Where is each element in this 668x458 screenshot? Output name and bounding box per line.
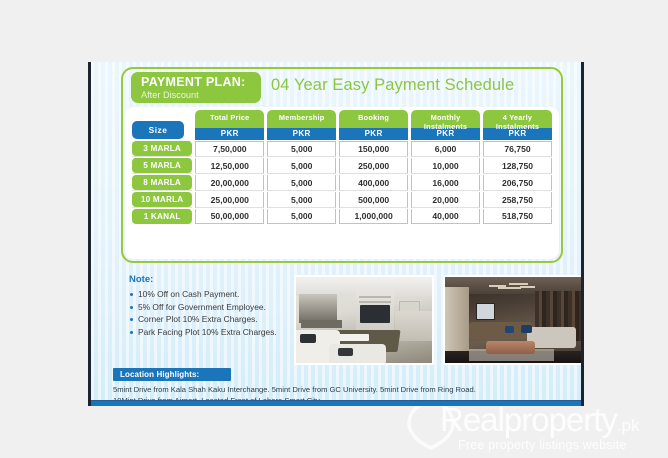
watermark-tagline: Free property listings website xyxy=(458,438,627,452)
note-item: 5% Off for Government Employee. xyxy=(129,301,309,314)
payment-plan-table: Size Total Price PKR Membership PKR Book… xyxy=(129,109,555,225)
row-size-label: 1 KANAL xyxy=(132,209,192,224)
cell-total-price: 7,50,000 xyxy=(195,141,264,157)
column-header-total-price-label: Total Price xyxy=(195,110,264,128)
payment-plan-badge-subtitle: After Discount xyxy=(141,90,253,101)
table-header-row: Size Total Price PKR Membership PKR Book… xyxy=(132,110,552,140)
payment-plan-badge-title: PAYMENT PLAN: xyxy=(141,75,253,89)
payment-plan-badge: PAYMENT PLAN: After Discount xyxy=(131,72,261,103)
cell-yearly: 128,750 xyxy=(483,158,552,174)
table-row: 10 MARLA 25,00,000 5,000 500,000 20,000 … xyxy=(132,192,552,208)
row-size-label: 8 MARLA xyxy=(132,175,192,190)
watermark: Realproperty.pk Free property listings w… xyxy=(398,398,668,458)
cell-booking: 500,000 xyxy=(339,192,408,208)
cell-yearly: 258,750 xyxy=(483,192,552,208)
cell-membership: 5,000 xyxy=(267,175,336,191)
watermark-brand-name: Realproperty xyxy=(440,401,617,438)
cell-membership: 5,000 xyxy=(267,209,336,224)
cell-monthly: 6,000 xyxy=(411,141,480,157)
cell-booking: 150,000 xyxy=(339,141,408,157)
note-list: 10% Off on Cash Payment. 5% Off for Gove… xyxy=(129,288,309,338)
location-highlights-bar: Location Highlights: xyxy=(113,368,231,381)
cell-booking: 400,000 xyxy=(339,175,408,191)
row-size-label: 3 MARLA xyxy=(132,141,192,156)
table-row: 1 KANAL 50,00,000 5,000 1,000,000 40,000… xyxy=(132,209,552,224)
note-item: 10% Off on Cash Payment. xyxy=(129,288,309,301)
watermark-brand: Realproperty.pk xyxy=(440,400,640,446)
row-size-label: 5 MARLA xyxy=(132,158,192,173)
cell-monthly: 40,000 xyxy=(411,209,480,224)
column-header-size: Size xyxy=(132,121,184,139)
column-header-monthly-instalments-label: Monthly Instalments xyxy=(411,110,480,128)
location-line-1: 5mint Drive from Kala Shah Kaku Intercha… xyxy=(113,384,563,395)
column-header-booking: Booking PKR xyxy=(339,110,408,140)
column-header-yearly-instalments-currency: PKR xyxy=(483,128,552,140)
cell-monthly: 16,000 xyxy=(411,175,480,191)
cell-total-price: 50,00,000 xyxy=(195,209,264,224)
table-row: 8 MARLA 20,00,000 5,000 400,000 16,000 2… xyxy=(132,175,552,191)
interior-photo-living-room xyxy=(294,275,434,365)
column-header-monthly-instalments: Monthly Instalments PKR xyxy=(411,110,480,140)
column-header-total-price-currency: PKR xyxy=(195,128,264,140)
row-size-label: 10 MARLA xyxy=(132,192,192,207)
cell-booking: 1,000,000 xyxy=(339,209,408,224)
column-header-membership-currency: PKR xyxy=(267,128,336,140)
column-header-yearly-instalments-label: 4 Yearly Instalments xyxy=(483,110,552,128)
note-item: Corner Plot 10% Extra Charges. xyxy=(129,313,309,326)
brochure-image: PAYMENT PLAN: After Discount 04 Year Eas… xyxy=(88,62,584,406)
note-item: Park Facing Plot 10% Extra Charges. xyxy=(129,326,309,339)
cell-yearly: 76,750 xyxy=(483,141,552,157)
cell-membership: 5,000 xyxy=(267,141,336,157)
cell-membership: 5,000 xyxy=(267,192,336,208)
bottom-accent-bar xyxy=(91,401,581,406)
cell-total-price: 20,00,000 xyxy=(195,175,264,191)
cell-booking: 250,000 xyxy=(339,158,408,174)
cell-total-price: 12,50,000 xyxy=(195,158,264,174)
payment-plan-title: 04 Year Easy Payment Schedule xyxy=(271,75,514,95)
table-row: 5 MARLA 12,50,000 5,000 250,000 10,000 1… xyxy=(132,158,552,174)
note-title: Note: xyxy=(129,274,309,285)
realproperty-logo-icon xyxy=(406,400,456,450)
cell-total-price: 25,00,000 xyxy=(195,192,264,208)
note-section: Note: 10% Off on Cash Payment. 5% Off fo… xyxy=(129,274,309,338)
interior-photo-luxury-lounge xyxy=(443,275,583,365)
cell-monthly: 20,000 xyxy=(411,192,480,208)
column-header-yearly-instalments: 4 Yearly Instalments PKR xyxy=(483,110,552,140)
column-header-booking-label: Booking xyxy=(339,110,408,128)
column-header-membership-label: Membership xyxy=(267,110,336,128)
payment-plan-table-container: Size Total Price PKR Membership PKR Book… xyxy=(125,107,559,259)
cell-monthly: 10,000 xyxy=(411,158,480,174)
cell-yearly: 518,750 xyxy=(483,209,552,224)
table-row: 3 MARLA 7,50,000 5,000 150,000 6,000 76,… xyxy=(132,141,552,157)
cell-membership: 5,000 xyxy=(267,158,336,174)
column-header-booking-currency: PKR xyxy=(339,128,408,140)
column-header-membership: Membership PKR xyxy=(267,110,336,140)
cell-yearly: 206,750 xyxy=(483,175,552,191)
column-header-total-price: Total Price PKR xyxy=(195,110,264,140)
column-header-monthly-instalments-currency: PKR xyxy=(411,128,480,140)
watermark-tld: .pk xyxy=(617,416,640,435)
